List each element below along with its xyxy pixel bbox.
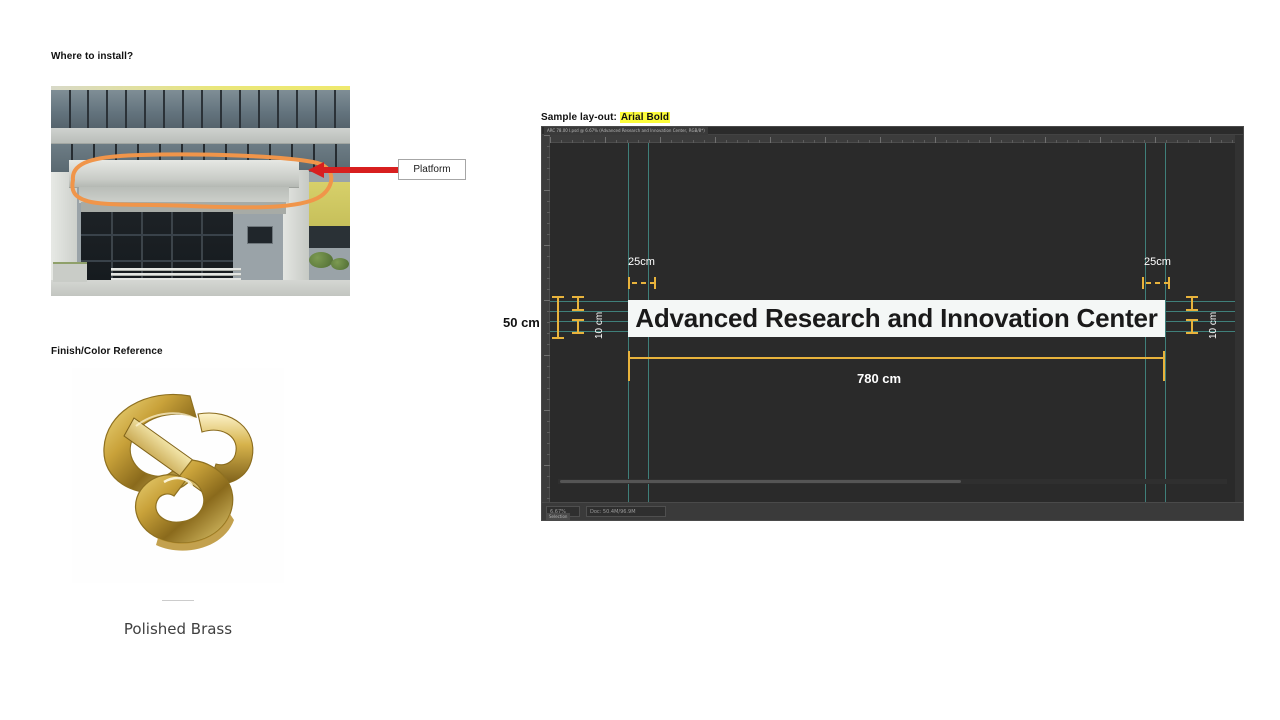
- upper-curtain-wall: [51, 90, 350, 128]
- dim-tick-left-25-a: [628, 277, 630, 289]
- canopy-platform-slab: [69, 160, 299, 188]
- dim-line-height: [557, 296, 559, 339]
- dim-tick-right-25-b: [1168, 277, 1170, 289]
- dim-cap-l10b-bottom: [572, 332, 584, 334]
- design-app-window[interactable]: ARC 78.00 I.psd @ 6.67% (Advanced Resear…: [541, 126, 1244, 521]
- dim-tick-width-right: [1163, 351, 1165, 381]
- dim-label-left-10cm: 10 cm: [594, 312, 605, 339]
- dim-tick-width-left: [628, 351, 630, 381]
- platform-callout-box: Platform: [398, 159, 466, 180]
- caption-divider: [162, 600, 194, 601]
- paving-apron: [51, 280, 350, 296]
- dim-label-right-10cm: 10 cm: [1208, 312, 1219, 339]
- sample-layout-label: Sample lay-out:: [541, 112, 617, 123]
- finish-color-reference-title: Finish/Color Reference: [51, 346, 163, 357]
- vertical-ruler[interactable]: [542, 135, 550, 502]
- document-info-field[interactable]: Doc: 50.4M/96.9M: [586, 506, 666, 517]
- side-window: [247, 226, 273, 244]
- horizontal-ruler[interactable]: [550, 135, 1235, 143]
- dim-label-overall-height: 50 cm: [503, 315, 540, 330]
- dim-cap-r10b-bottom: [1186, 332, 1198, 334]
- dim-tick-left-25-b: [654, 277, 656, 289]
- active-tool-indicator: Selection: [546, 513, 570, 520]
- dim-dash-right-25: [1146, 282, 1168, 284]
- red-arrow-icon: [308, 160, 403, 180]
- dim-cap-height-bottom: [552, 337, 564, 339]
- shrub-right-2: [331, 258, 349, 270]
- sign-artwork-bar[interactable]: Advanced Research and Innovation Center: [628, 300, 1165, 337]
- guide-vertical-right-outer: [1165, 143, 1166, 502]
- presentation-page: Where to install?: [0, 0, 1280, 720]
- dim-line-width: [628, 357, 1165, 359]
- sample-layout-title: Sample lay-out: Arial Bold: [541, 112, 670, 123]
- canvas-horizontal-scrollbar[interactable]: [558, 479, 1227, 484]
- polished-brass-letters-photo: [72, 368, 284, 583]
- shrub-right: [309, 252, 333, 268]
- wing-glazing: [309, 226, 350, 248]
- dim-label-width-780cm: 780 cm: [857, 371, 901, 386]
- app-tab-bar: ARC 78.00 I.psd @ 6.67% (Advanced Resear…: [542, 127, 1243, 135]
- canopy-underside: [79, 187, 289, 203]
- dim-cap-l10a-bottom: [572, 309, 584, 311]
- artboard-canvas[interactable]: Advanced Research and Innovation Center …: [550, 143, 1235, 502]
- dim-label-left-25cm: 25cm: [628, 256, 655, 268]
- dim-label-right-25cm: 25cm: [1144, 256, 1171, 268]
- dim-dash-left-25: [632, 282, 654, 284]
- where-to-install-title: Where to install?: [51, 51, 133, 62]
- left-planter: [53, 262, 87, 282]
- dim-cap-r10a-bottom: [1186, 309, 1198, 311]
- document-tab[interactable]: ARC 78.00 I.psd @ 6.67% (Advanced Resear…: [544, 127, 708, 135]
- dim-tick-right-25-a: [1142, 277, 1144, 289]
- finish-caption: Polished Brass: [72, 620, 284, 638]
- building-entrance-photo: [51, 86, 350, 296]
- concrete-band: [51, 128, 350, 144]
- font-name-highlight: Arial Bold: [620, 112, 670, 123]
- sign-text: Advanced Research and Innovation Center: [635, 303, 1157, 334]
- app-status-bar: 6.67% Doc: 50.4M/96.9M Selection: [542, 502, 1243, 520]
